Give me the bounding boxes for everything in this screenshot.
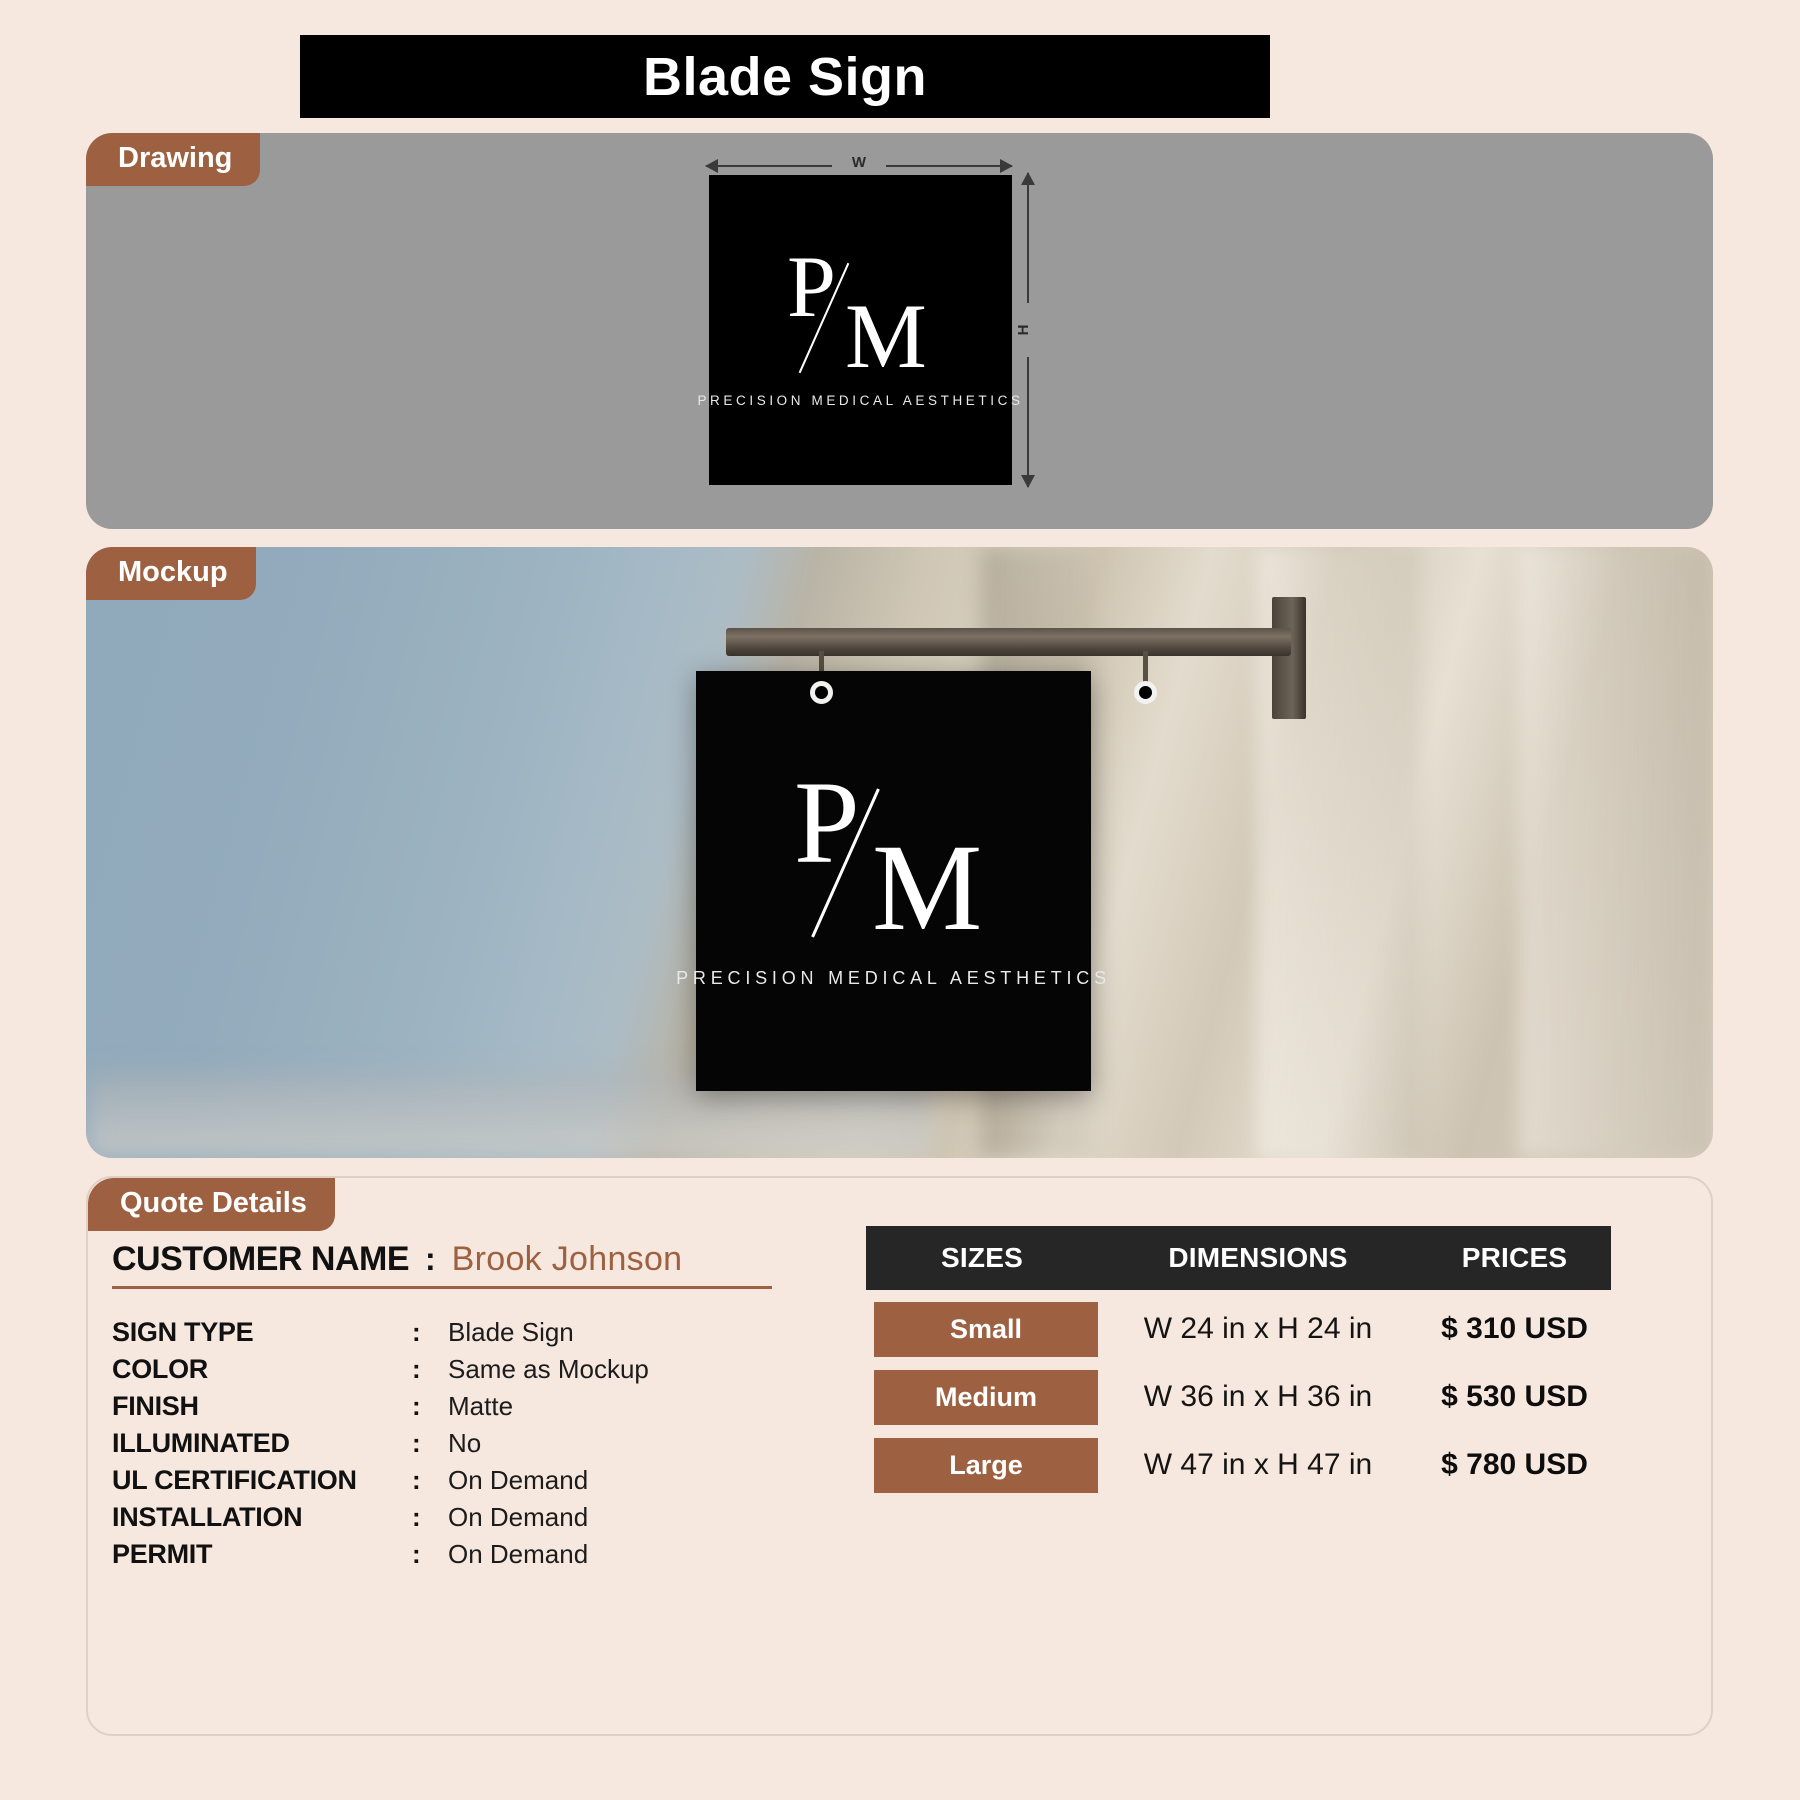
dimensions-cell: W 24 in x H 24 in [1098, 1312, 1418, 1346]
spec-key: UL CERTIFICATION [112, 1465, 412, 1496]
mockup-panel: P M PRECISION MEDICAL AESTHETICS Mockup [86, 547, 1713, 1158]
price-table-header: SIZES DIMENSIONS PRICES [866, 1226, 1611, 1290]
spec-key: SIGN TYPE [112, 1317, 412, 1348]
spec-row: SIGN TYPE : Blade Sign [112, 1317, 772, 1354]
size-badge: Medium [874, 1370, 1098, 1425]
grommet-left-icon [810, 681, 833, 704]
spec-table: SIGN TYPE : Blade Sign COLOR : Same as M… [112, 1317, 772, 1576]
customer-name-colon: : [425, 1241, 436, 1278]
drawing-logo-tagline: PRECISION MEDICAL AESTHETICS [697, 393, 1023, 408]
scene-wall-front [1518, 547, 1713, 1158]
spec-value: Same as Mockup [448, 1354, 649, 1385]
page-title-bar: Blade Sign [300, 35, 1270, 118]
page-title: Blade Sign [643, 50, 927, 104]
spec-value: Matte [448, 1391, 513, 1422]
spec-key: COLOR [112, 1354, 412, 1385]
price-table-row: Medium W 36 in x H 36 in $ 530 USD [866, 1368, 1611, 1426]
arrow-up-icon [1021, 172, 1035, 185]
drawing-panel: Drawing W H P M PRECISION MEDICAL AESTHE [86, 133, 1713, 529]
price-cell: $ 780 USD [1418, 1448, 1611, 1482]
header-prices: PRICES [1418, 1242, 1611, 1274]
width-line-left [706, 165, 832, 167]
spec-key: PERMIT [112, 1539, 412, 1570]
bracket-wall-plate [1272, 597, 1306, 719]
customer-name-label: CUSTOMER NAME [112, 1240, 409, 1279]
spec-row: UL CERTIFICATION : On Demand [112, 1465, 772, 1502]
logo-letter-m: M [872, 826, 982, 950]
mockup-tab[interactable]: Mockup [86, 547, 256, 600]
spec-colon: : [412, 1465, 448, 1496]
dimensions-cell: W 36 in x H 36 in [1098, 1380, 1418, 1414]
mockup-photo: P M PRECISION MEDICAL AESTHETICS [86, 547, 1713, 1158]
price-cell: $ 530 USD [1418, 1380, 1611, 1414]
header-sizes: SIZES [866, 1242, 1098, 1274]
spec-row: COLOR : Same as Mockup [112, 1354, 772, 1391]
spec-key: ILLUMINATED [112, 1428, 412, 1459]
spec-key: FINISH [112, 1391, 412, 1422]
price-table-row: Small W 24 in x H 24 in $ 310 USD [866, 1300, 1611, 1358]
width-label: W [852, 154, 866, 171]
quote-spec-column: CUSTOMER NAME : Brook Johnson SIGN TYPE … [88, 1178, 848, 1734]
mockup-logo-tagline: PRECISION MEDICAL AESTHETICS [676, 968, 1111, 989]
arrow-down-icon [1021, 475, 1035, 488]
spec-colon: : [412, 1539, 448, 1570]
price-cell: $ 310 USD [1418, 1312, 1611, 1346]
spec-colon: : [412, 1317, 448, 1348]
quote-details-panel: Quote Details CUSTOMER NAME : Brook John… [86, 1176, 1713, 1736]
mockup-sign-face: P M PRECISION MEDICAL AESTHETICS [696, 671, 1091, 1091]
spec-row: INSTALLATION : On Demand [112, 1502, 772, 1539]
size-badge: Large [874, 1438, 1098, 1493]
logo-letter-m: M [845, 290, 927, 382]
pm-monogram-logo-icon: P M [776, 774, 1011, 942]
spec-row: ILLUMINATED : No [112, 1428, 772, 1465]
spec-value: On Demand [448, 1502, 588, 1533]
spec-colon: : [412, 1391, 448, 1422]
drawing-tab[interactable]: Drawing [86, 133, 260, 186]
grommet-right-icon [1134, 681, 1157, 704]
height-dimension-marker: H [1016, 173, 1040, 487]
spec-colon: : [412, 1502, 448, 1533]
header-dimensions: DIMENSIONS [1098, 1242, 1418, 1274]
spec-colon: : [412, 1354, 448, 1385]
customer-name-row: CUSTOMER NAME : Brook Johnson [112, 1240, 772, 1289]
pm-monogram-logo-icon: P M [773, 252, 948, 377]
spec-value: No [448, 1428, 481, 1459]
dimensions-cell: W 47 in x H 47 in [1098, 1448, 1418, 1482]
arrow-left-icon [705, 159, 718, 173]
logo-letter-p: P [787, 244, 836, 332]
logo-letter-p: P [794, 764, 860, 882]
quote-details-tab[interactable]: Quote Details [88, 1178, 335, 1231]
drawing-sign-face: P M PRECISION MEDICAL AESTHETICS [709, 175, 1012, 485]
spec-value: On Demand [448, 1465, 588, 1496]
price-table-row: Large W 47 in x H 47 in $ 780 USD [866, 1436, 1611, 1494]
height-line-bottom [1027, 357, 1029, 487]
height-line-top [1027, 173, 1029, 303]
spec-row: PERMIT : On Demand [112, 1539, 772, 1576]
spec-key: INSTALLATION [112, 1502, 412, 1533]
spec-colon: : [412, 1428, 448, 1459]
spec-row: FINISH : Matte [112, 1391, 772, 1428]
size-badge: Small [874, 1302, 1098, 1357]
spec-value: On Demand [448, 1539, 588, 1570]
bracket-arm [726, 628, 1291, 656]
quote-body: CUSTOMER NAME : Brook Johnson SIGN TYPE … [88, 1178, 1711, 1734]
customer-name-value: Brook Johnson [452, 1240, 683, 1279]
width-dimension-marker: W [706, 155, 1012, 175]
width-line-right [886, 165, 1012, 167]
arrow-right-icon [1000, 159, 1013, 173]
height-label: H [1015, 325, 1032, 336]
quote-price-column: SIZES DIMENSIONS PRICES Small W 24 in x … [848, 1178, 1711, 1734]
price-table: SIZES DIMENSIONS PRICES Small W 24 in x … [866, 1226, 1611, 1494]
spec-value: Blade Sign [448, 1317, 574, 1348]
drawing-stage: W H P M PRECISION MEDICAL AESTHETICS [86, 133, 1713, 529]
